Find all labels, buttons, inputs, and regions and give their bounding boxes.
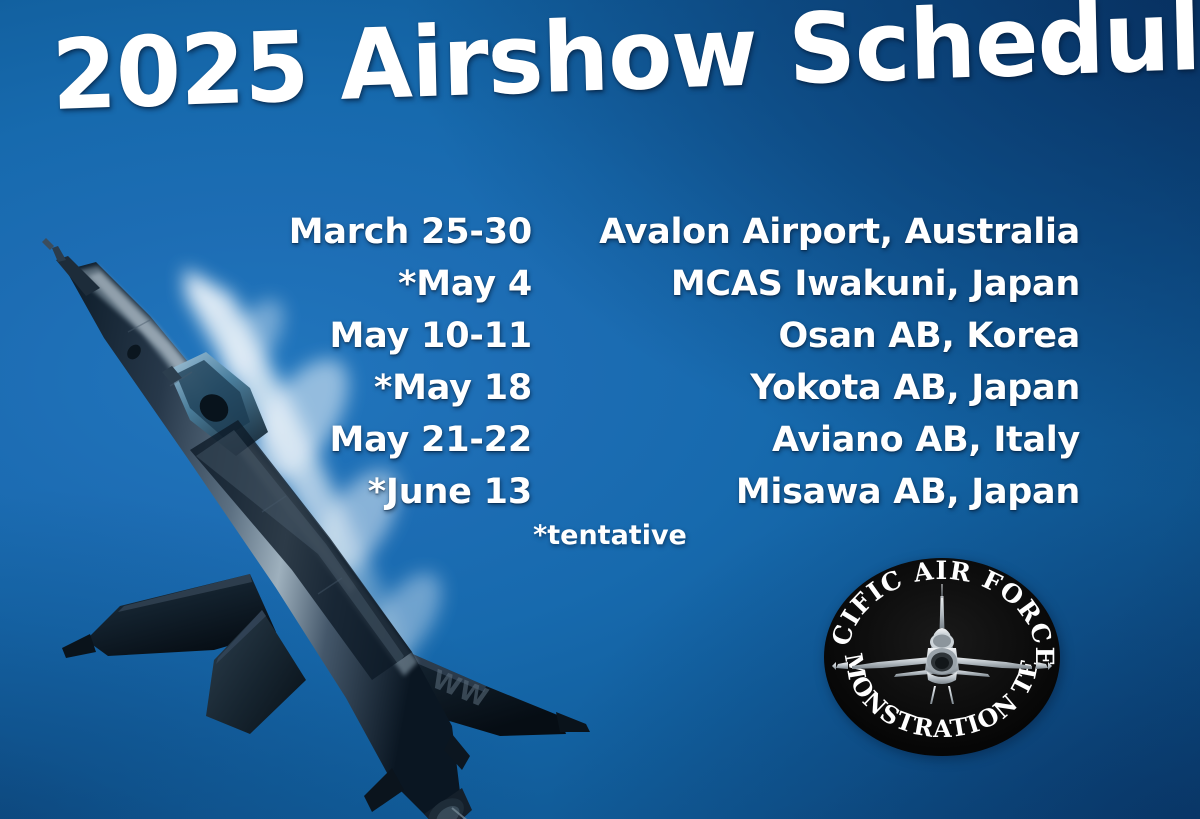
airshow-schedule-list: March 25-30 Avalon Airport, Australia *M…	[260, 206, 1080, 518]
schedule-date: *May 4	[260, 258, 532, 310]
schedule-location: MCAS Iwakuni, Japan	[532, 258, 1080, 310]
schedule-location: Misawa AB, Japan	[532, 466, 1080, 518]
schedule-date: May 21-22	[260, 414, 532, 466]
airshow-schedule-poster: WW 422	[0, 0, 1200, 819]
schedule-row: *June 13 Misawa AB, Japan	[260, 466, 1080, 518]
schedule-location: Aviano AB, Italy	[532, 414, 1080, 466]
schedule-date: *June 13	[260, 466, 532, 518]
schedule-row: May 10-11 Osan AB, Korea	[260, 310, 1080, 362]
schedule-row: *May 18 Yokota AB, Japan	[260, 362, 1080, 414]
schedule-row: May 21-22 Aviano AB, Italy	[260, 414, 1080, 466]
pacific-air-forces-demonstration-team-emblem: PACIFIC AIR FORCES DEMONSTRATION TEAM	[822, 556, 1062, 758]
schedule-date: *May 18	[260, 362, 532, 414]
schedule-date: March 25-30	[260, 206, 532, 258]
schedule-date: May 10-11	[260, 310, 532, 362]
schedule-location: Yokota AB, Japan	[532, 362, 1080, 414]
schedule-row: *May 4 MCAS Iwakuni, Japan	[260, 258, 1080, 310]
schedule-location: Avalon Airport, Australia	[532, 206, 1080, 258]
schedule-location: Osan AB, Korea	[532, 310, 1080, 362]
tentative-footnote: *tentative	[260, 518, 960, 554]
schedule-row: March 25-30 Avalon Airport, Australia	[260, 206, 1080, 258]
